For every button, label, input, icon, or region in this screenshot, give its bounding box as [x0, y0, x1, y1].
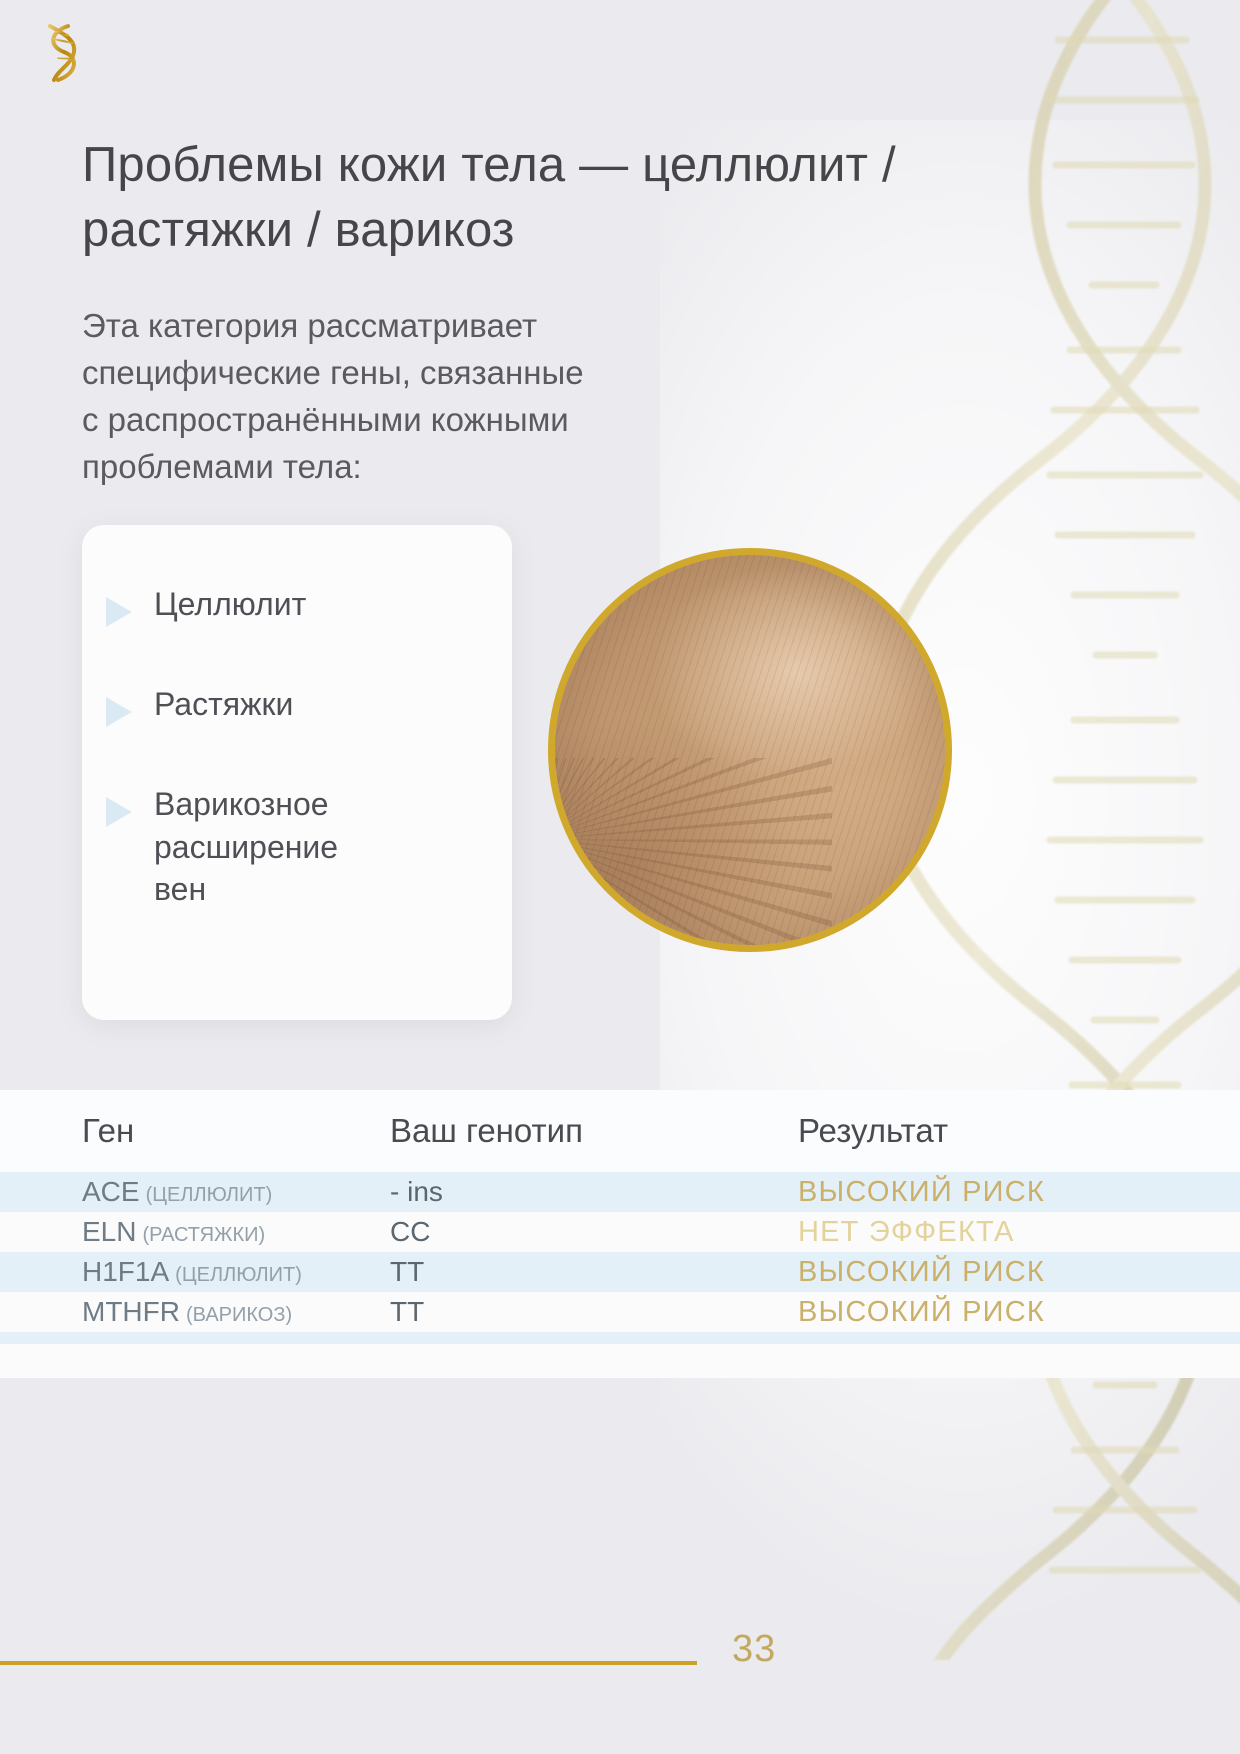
- list-item-label: Варикозное расширение вен: [154, 783, 338, 911]
- cell-genotype: CC: [390, 1216, 798, 1248]
- triangle-bullet-icon: [106, 697, 132, 727]
- triangle-bullet-icon: [106, 797, 132, 827]
- genotype-results-table: Ген Ваш генотип Результат ACE(ЦЕЛЛЮЛИТ) …: [0, 1090, 1240, 1378]
- cell-result: ВЫСОКИЙ РИСК: [798, 1176, 1200, 1209]
- footer-divider: [0, 1661, 697, 1665]
- gene-note: (ВАРИКОЗ): [186, 1304, 292, 1326]
- gene-symbol: MTHFR: [82, 1296, 180, 1327]
- cell-result: ВЫСОКИЙ РИСК: [798, 1296, 1200, 1329]
- cell-gene: ELN(РАСТЯЖКИ): [82, 1216, 390, 1248]
- cell-genotype: - ins: [390, 1176, 798, 1208]
- cell-result: ВЫСОКИЙ РИСК: [798, 1256, 1200, 1289]
- page-number: 33: [732, 1628, 776, 1671]
- table-bottom-accent: [0, 1332, 1240, 1344]
- column-header-genotype: Ваш генотип: [390, 1112, 798, 1150]
- cell-genotype: TT: [390, 1296, 798, 1328]
- list-item: Целлюлит: [82, 583, 512, 627]
- skin-vignette: [555, 555, 945, 945]
- table-bottom-spacer: [0, 1344, 1240, 1378]
- gene-symbol: ELN: [82, 1216, 136, 1247]
- list-item-label: Целлюлит: [154, 583, 306, 626]
- cell-gene: H1F1A(ЦЕЛЛЮЛИТ): [82, 1256, 390, 1288]
- conditions-card: Целлюлит Растяжки Варикозное расширение …: [82, 525, 512, 1020]
- report-page: Проблемы кожи тела — целлюлит / растяжки…: [0, 0, 1240, 1754]
- triangle-bullet-icon: [106, 597, 132, 627]
- gene-note: (ЦЕЛЛЮЛИТ): [175, 1264, 302, 1286]
- intro-paragraph: Эта категория рассматривает специфически…: [82, 303, 802, 490]
- table-row: H1F1A(ЦЕЛЛЮЛИТ) TT ВЫСОКИЙ РИСК: [0, 1252, 1240, 1292]
- column-header-gene: Ген: [82, 1112, 390, 1150]
- table-header-row: Ген Ваш генотип Результат: [0, 1090, 1240, 1172]
- skin-texture-photo: [548, 548, 952, 952]
- table-row: ACE(ЦЕЛЛЮЛИТ) - ins ВЫСОКИЙ РИСК: [0, 1172, 1240, 1212]
- cell-result: НЕТ ЭФФЕКТА: [798, 1216, 1200, 1249]
- cell-genotype: TT: [390, 1256, 798, 1288]
- list-item: Варикозное расширение вен: [82, 783, 512, 911]
- gene-symbol: ACE: [82, 1176, 140, 1207]
- gene-note: (РАСТЯЖКИ): [142, 1224, 265, 1246]
- page-title: Проблемы кожи тела — целлюлит / растяжки…: [82, 133, 982, 262]
- column-header-result: Результат: [798, 1112, 1200, 1150]
- table-row: MTHFR(ВАРИКОЗ) TT ВЫСОКИЙ РИСК: [0, 1292, 1240, 1332]
- gene-symbol: H1F1A: [82, 1256, 169, 1287]
- list-item: Растяжки: [82, 683, 512, 727]
- cell-gene: ACE(ЦЕЛЛЮЛИТ): [82, 1176, 390, 1208]
- table-row: ELN(РАСТЯЖКИ) CC НЕТ ЭФФЕКТА: [0, 1212, 1240, 1252]
- list-item-label: Растяжки: [154, 683, 293, 726]
- gene-note: (ЦЕЛЛЮЛИТ): [146, 1184, 273, 1206]
- cell-gene: MTHFR(ВАРИКОЗ): [82, 1296, 390, 1328]
- dna-helix-icon: [30, 18, 88, 88]
